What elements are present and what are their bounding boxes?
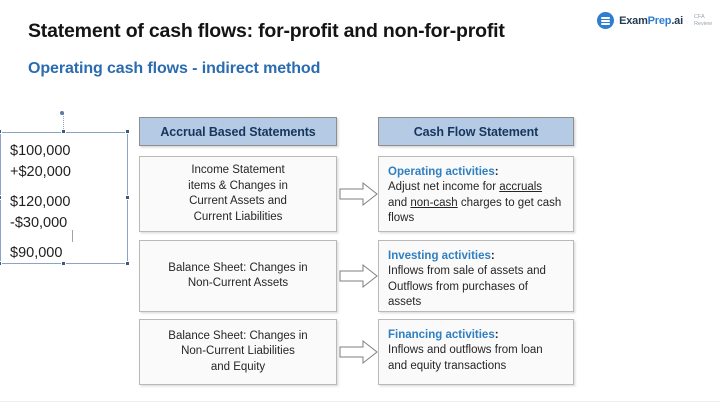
cashflow-row-1-heading-text: Operating activities: [388, 166, 495, 178]
slide-canvas: Statement of cash flows: for-profit and …: [0, 0, 720, 404]
accrual-cell-row-3-text: Balance Sheet: Changes in Non-Current Li…: [168, 329, 307, 376]
page-title: Statement of cash flows: for-profit and …: [28, 20, 505, 43]
resize-handle-bottom-left[interactable]: [0, 261, 2, 266]
logo-bar-middle: [601, 20, 610, 22]
cashflow-row-1-heading: Operating activities:: [388, 164, 564, 180]
cashflow-row-1-term-noncash: non-cash: [410, 197, 457, 209]
accrual-row-3-line-3: and Equity: [211, 361, 265, 373]
accrual-row-1-line-2: items & Changes in: [188, 180, 288, 192]
calc-line-1: $100,000: [10, 143, 70, 159]
accrual-row-2-line-1: Balance Sheet: Changes in: [168, 262, 307, 274]
cashflow-cell-row-1[interactable]: Operating activities: Adjust net income …: [378, 156, 574, 232]
cashflow-row-3-heading-text: Financing activities: [388, 329, 495, 341]
brand-name-part1: Exam: [619, 15, 648, 27]
brand-tagline-line2: Review: [694, 21, 712, 27]
accrual-row-1-line-4: Current Liabilities: [194, 211, 283, 223]
block-arrow-right-icon-row-2: [339, 263, 379, 289]
cashflow-row-1-body-mid: and: [388, 197, 410, 209]
cashflow-row-3-body: Inflows and outflows from loan and equit…: [388, 343, 564, 374]
brand-name: ExamPrep.ai: [619, 15, 683, 27]
calculation-text: $100,000 +$20,000 $120,000 -$30,000 $90,…: [10, 141, 71, 264]
block-arrow-right-icon-row-1: [339, 181, 379, 207]
resize-handle-middle-right[interactable]: [125, 195, 130, 200]
accrual-row-1-line-3: Current Assets and: [189, 195, 287, 207]
accrual-cell-row-1-text: Income Statement items & Changes in Curr…: [188, 163, 288, 225]
text-cursor: [72, 230, 73, 242]
calc-line-2: +$20,000: [10, 164, 71, 180]
accrual-row-3-line-2: Non-Current Liabilities: [181, 345, 295, 357]
resize-handle-top-left[interactable]: [0, 129, 2, 134]
column-header-accrual[interactable]: Accrual Based Statements: [139, 117, 337, 146]
accrual-row-1-line-1: Income Statement: [191, 164, 284, 176]
accrual-cell-row-3[interactable]: Balance Sheet: Changes in Non-Current Li…: [139, 319, 337, 385]
examprep-circle-icon: [597, 12, 614, 29]
accrual-cell-row-1[interactable]: Income Statement items & Changes in Curr…: [139, 156, 337, 232]
cashflow-cell-row-3[interactable]: Financing activities: Inflows and outflo…: [378, 319, 574, 385]
calc-line-5: $90,000: [10, 245, 62, 261]
block-arrow-right-icon-row-3: [339, 339, 379, 365]
cashflow-row-2-heading-text: Investing activities: [388, 250, 491, 262]
cashflow-row-1-body: Adjust net income for accruals and non-c…: [388, 180, 564, 227]
resize-handle-bottom-right[interactable]: [125, 261, 130, 266]
calc-line-4: -$30,000: [10, 215, 67, 231]
cashflow-row-1-term-accruals: accruals: [499, 181, 542, 193]
page-subtitle: Operating cash flows - indirect method: [28, 60, 320, 78]
brand-name-part3: .ai: [671, 15, 683, 27]
brand-name-part2: Prep: [648, 15, 672, 27]
cashflow-row-2-heading: Investing activities:: [388, 248, 564, 264]
resize-handle-bottom-middle[interactable]: [61, 261, 66, 266]
cashflow-row-3-heading: Financing activities:: [388, 327, 564, 343]
cashflow-row-2-body: Inflows from sale of assets and Outflows…: [388, 264, 564, 311]
calc-spacer-2: [10, 234, 71, 243]
brand-tagline-line1: CFA: [694, 14, 705, 20]
brand-tagline: CFA Review: [694, 14, 712, 28]
resize-handle-middle-left[interactable]: [0, 195, 2, 200]
brand-logo: ExamPrep.ai CFA Review: [597, 12, 712, 29]
column-header-cash-flow[interactable]: Cash Flow Statement: [378, 117, 574, 146]
cashflow-cell-row-2[interactable]: Investing activities: Inflows from sale …: [378, 240, 574, 312]
calc-line-3: $120,000: [10, 194, 70, 210]
accrual-row-3-line-1: Balance Sheet: Changes in: [168, 330, 307, 342]
accrual-cell-row-2-text: Balance Sheet: Changes in Non-Current As…: [168, 261, 307, 292]
rotate-handle[interactable]: [60, 111, 64, 115]
cashflow-row-1-body-pre: Adjust net income for: [388, 181, 499, 193]
resize-handle-top-middle[interactable]: [61, 129, 66, 134]
selected-textbox[interactable]: $100,000 +$20,000 $120,000 -$30,000 $90,…: [0, 113, 130, 268]
bottom-divider: [0, 401, 720, 402]
accrual-row-2-line-2: Non-Current Assets: [188, 277, 288, 289]
calc-spacer-1: [10, 183, 71, 192]
resize-handle-top-right[interactable]: [125, 129, 130, 134]
accrual-cell-row-2[interactable]: Balance Sheet: Changes in Non-Current As…: [139, 240, 337, 312]
